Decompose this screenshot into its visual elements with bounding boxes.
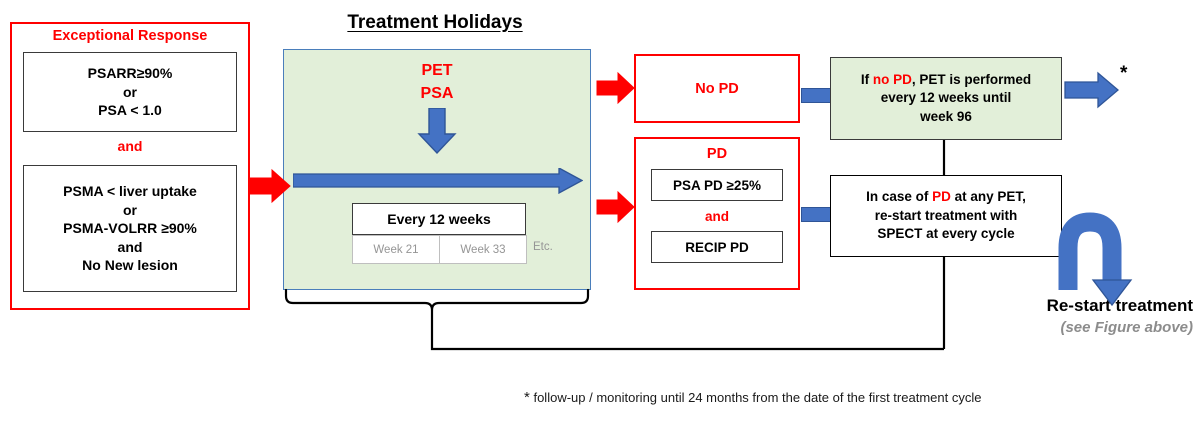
curly-brace	[286, 290, 588, 310]
restart-treatment-title: Re-start treatment	[928, 296, 1193, 316]
outcome-no-pd-box: No PD	[634, 54, 800, 123]
outcome-pd-label: PD	[636, 146, 798, 162]
timeline-arrow-icon	[293, 168, 583, 194]
criteria-line: PSMA < liver uptake	[63, 182, 197, 200]
connector-no-pd-to-result	[801, 88, 831, 103]
pd-criteria-recip: RECIP PD	[651, 231, 783, 263]
result-no-pd-box: If no PD, PET is performed every 12 week…	[830, 57, 1062, 140]
exceptional-response-title: Exceptional Response	[10, 28, 250, 44]
result-text-highlight: PD	[932, 189, 951, 204]
red-arrow-icon	[597, 192, 634, 222]
criteria-and-connector: and	[23, 138, 237, 154]
restart-treatment-subtitle: (see Figure above)	[928, 319, 1193, 336]
result-pd-box: In case of PD at any PET, re-start treat…	[830, 175, 1062, 257]
psa-assessment-label: PSA	[283, 85, 591, 103]
footnote: * follow-up / monitoring until 24 months…	[524, 389, 1194, 406]
red-arrow-icon	[597, 73, 634, 103]
criteria-line: or	[123, 201, 137, 219]
footnote-marker: *	[524, 389, 530, 406]
criteria-line: PSA < 1.0	[98, 101, 162, 119]
criteria-line: PSMA-VOLRR ≥90%	[63, 219, 197, 237]
outcome-pd-box: PD PSA PD ≥25% and RECIP PD	[634, 137, 800, 290]
criteria-box-psma: PSMA < liver uptake or PSMA-VOLRR ≥90% a…	[23, 165, 237, 292]
timeline-week-cell: Week 33	[440, 235, 527, 264]
page-title: Treatment Holidays	[280, 12, 590, 34]
result-text: re-start treatment with	[875, 208, 1018, 223]
timeline-week-row: Week 21 Week 33	[352, 235, 527, 264]
result-text: every 12 weeks until	[881, 90, 1012, 105]
interval-label: Every 12 weeks	[352, 203, 526, 235]
criteria-line: and	[118, 238, 143, 256]
brace-feeder-line	[432, 310, 944, 349]
footnote-text: follow-up / monitoring until 24 months f…	[533, 390, 981, 405]
down-arrow-icon	[283, 108, 591, 154]
pd-criteria-psa: PSA PD ≥25%	[651, 169, 783, 201]
criteria-line: PSARR≥90%	[88, 64, 173, 82]
criteria-line: No New lesion	[82, 256, 178, 274]
curved-blue-arrow-icon	[1068, 222, 1131, 305]
criteria-line: or	[123, 83, 137, 101]
asterisk-reference-marker: *	[1120, 63, 1127, 85]
result-text: If	[861, 72, 873, 87]
connector-pd-to-result	[801, 207, 831, 222]
result-text: , PET is performed	[912, 72, 1031, 87]
pet-assessment-label: PET	[283, 62, 591, 80]
criteria-box-psa: PSARR≥90% or PSA < 1.0	[23, 52, 237, 132]
pd-and-connector: and	[636, 209, 798, 224]
flowchart-canvas: Exceptional Response PSARR≥90% or PSA < …	[0, 0, 1200, 422]
result-text: at any PET,	[951, 189, 1026, 204]
timeline-etc-label: Etc.	[533, 241, 553, 253]
result-text-highlight: no PD	[873, 72, 912, 87]
timeline-week-cell: Week 21	[352, 235, 440, 264]
result-text: In case of	[866, 189, 932, 204]
result-text: week 96	[920, 109, 972, 124]
blue-arrow-icon	[1065, 73, 1118, 107]
result-text: SPECT at every cycle	[877, 226, 1014, 241]
